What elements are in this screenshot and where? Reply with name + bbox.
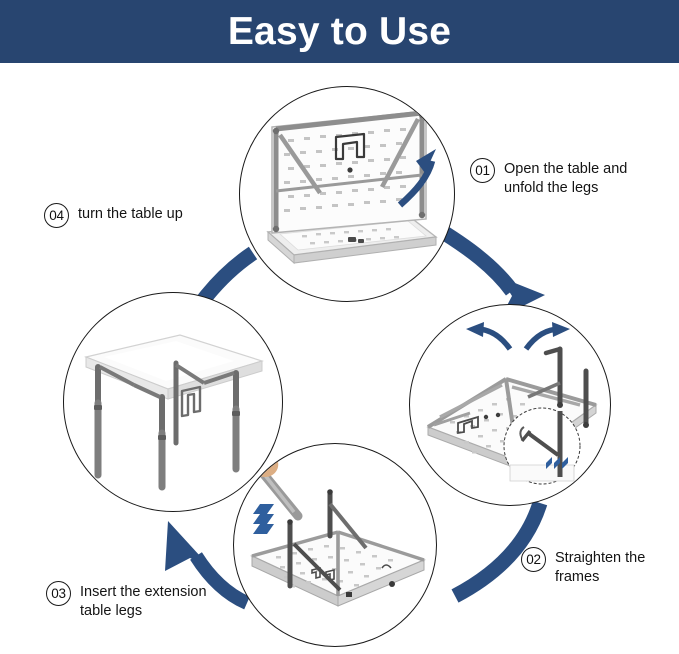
step-3-number-badge: 03 bbox=[46, 581, 71, 606]
page-title: Easy to Use bbox=[228, 12, 451, 51]
step-4-photo-circle bbox=[63, 292, 283, 512]
step-2-caption: 02 Straighten the frames bbox=[521, 547, 671, 587]
step-4-number-badge: 04 bbox=[44, 203, 69, 228]
step-1-number-badge: 01 bbox=[470, 158, 495, 183]
step-2-number-badge: 02 bbox=[521, 547, 546, 572]
step-3-caption: 03 Insert the extension table legs bbox=[46, 581, 241, 621]
step-2-label: Straighten the frames bbox=[555, 547, 645, 587]
header-banner: Easy to Use bbox=[0, 0, 679, 63]
step-4-caption: 04 turn the table up bbox=[44, 203, 234, 228]
frame-lock-detail-inset bbox=[504, 408, 580, 484]
frames-straighten-arrows-icon bbox=[466, 322, 570, 349]
finished-white-folding-table-illustration bbox=[86, 335, 262, 487]
step-2-photo-circle bbox=[409, 304, 611, 506]
step-1-caption: 01 Open the table and unfold the legs bbox=[470, 158, 660, 198]
folded-table-opening-illustration bbox=[268, 111, 436, 263]
step-3-label: Insert the extension table legs bbox=[80, 581, 207, 621]
step-4-label: turn the table up bbox=[78, 203, 183, 224]
easy-to-use-infographic: Easy to Use bbox=[0, 0, 679, 654]
step-1-photo-circle bbox=[239, 86, 455, 302]
step-1-label: Open the table and unfold the legs bbox=[504, 158, 627, 198]
